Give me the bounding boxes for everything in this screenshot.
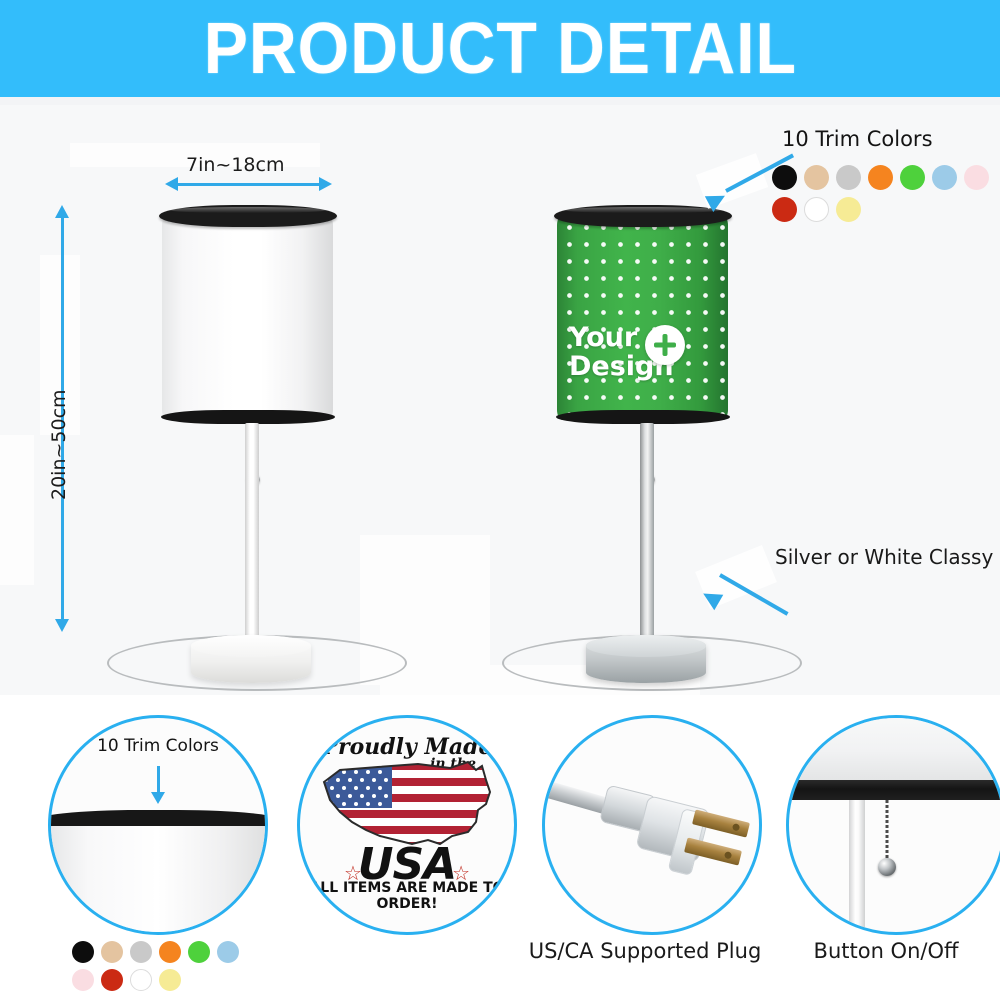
- plus-icon: [645, 325, 685, 365]
- polka-dot-pattern: [557, 215, 728, 420]
- trim-band-top: [159, 205, 337, 227]
- base-callout-arrow: [700, 557, 796, 611]
- width-dimension-arrow: [165, 177, 332, 191]
- trim-swatch-light-blue[interactable]: [217, 941, 239, 963]
- trim-color-swatches[interactable]: [772, 165, 1000, 229]
- product-detail-infographic: PRODUCT DETAIL 7in~18cm 20in~50cm: [0, 0, 1000, 1000]
- trim-swatch-black[interactable]: [72, 941, 94, 963]
- trim-swatch-white[interactable]: [130, 969, 152, 991]
- on-off-caption: Button On/Off: [772, 939, 1000, 963]
- lamp-base-white: [191, 635, 311, 683]
- trim-swatch-orange[interactable]: [868, 165, 893, 190]
- trim-swatch-yellow[interactable]: [159, 969, 181, 991]
- trim-swatch-red[interactable]: [101, 969, 123, 991]
- feature-button-on-off: Button On/Off: [772, 703, 1000, 1000]
- main-stage: 7in~18cm 20in~50cm: [0, 105, 1000, 695]
- trim-swatch-white[interactable]: [804, 197, 829, 222]
- trim-swatch-light-blue[interactable]: [932, 165, 957, 190]
- lamp-pole-closeup: [849, 800, 865, 932]
- lamp-pole-silver: [640, 423, 654, 671]
- trim-swatch-gray[interactable]: [130, 941, 152, 963]
- design-placeholder-text: Your Design: [569, 323, 719, 381]
- trim-color-swatches-small[interactable]: [72, 941, 272, 997]
- page-title: PRODUCT DETAIL: [203, 8, 796, 90]
- trim-band-bottom: [161, 410, 335, 424]
- trim-band-bottom: [556, 410, 730, 424]
- trim-colors-circle: 10 Trim Colors: [48, 715, 268, 935]
- lamp-pole-white: [245, 423, 259, 671]
- shade-closeup: [48, 826, 268, 935]
- trim-swatch-gray[interactable]: [836, 165, 861, 190]
- trim-colors-inner-label: 10 Trim Colors: [97, 736, 219, 756]
- height-dimension-label: 20in~50cm: [48, 389, 70, 500]
- design-line-2: Design: [569, 352, 719, 381]
- design-line-1: Your: [569, 323, 719, 352]
- lamp-shade-green: Your Design: [557, 215, 728, 420]
- trim-swatch-green[interactable]: [900, 165, 925, 190]
- trim-swatch-pink[interactable]: [964, 165, 989, 190]
- feature-plug: US/CA Supported Plug: [520, 703, 770, 1000]
- feature-row: 10 Trim Colors Proudly Made in the: [0, 695, 1000, 1000]
- trim-down-arrow: [151, 766, 165, 804]
- plug-circle: [542, 715, 762, 935]
- header-divider: [0, 97, 1000, 105]
- plug-caption: US/CA Supported Plug: [520, 939, 770, 963]
- trim-band-closeup: [786, 780, 1000, 800]
- trim-swatch-tan[interactable]: [804, 165, 829, 190]
- lamp-white-blank: [145, 195, 365, 640]
- on-off-circle: [786, 715, 1000, 935]
- trim-band-top: [554, 205, 732, 227]
- usa-badge-circle: Proudly Made in the: [297, 715, 517, 935]
- lamp-base-silver: [586, 635, 706, 683]
- bg-patch-3: [0, 435, 34, 585]
- width-dimension-label: 7in~18cm: [186, 154, 284, 176]
- feature-trim-colors: 10 Trim Colors: [36, 703, 266, 1000]
- feature-made-in-usa: Proudly Made in the: [285, 703, 515, 1000]
- trim-swatch-orange[interactable]: [159, 941, 181, 963]
- trim-colors-title: 10 Trim Colors: [782, 127, 933, 151]
- trim-callout-arrow: [708, 171, 798, 211]
- trim-swatch-green[interactable]: [188, 941, 210, 963]
- trim-swatch-yellow[interactable]: [836, 197, 861, 222]
- base-finish-label: Silver or White Classy: [775, 545, 993, 569]
- shade-bottom-closeup: [786, 715, 1000, 780]
- trim-swatch-tan[interactable]: [101, 941, 123, 963]
- usa-subtitle: ALL ITEMS ARE MADE TO ORDER!: [300, 880, 514, 912]
- header-banner: PRODUCT DETAIL: [0, 0, 1000, 97]
- pull-chain-closeup[interactable]: [877, 800, 897, 884]
- trim-swatch-pink[interactable]: [72, 969, 94, 991]
- lamp-shade-white: [162, 215, 333, 420]
